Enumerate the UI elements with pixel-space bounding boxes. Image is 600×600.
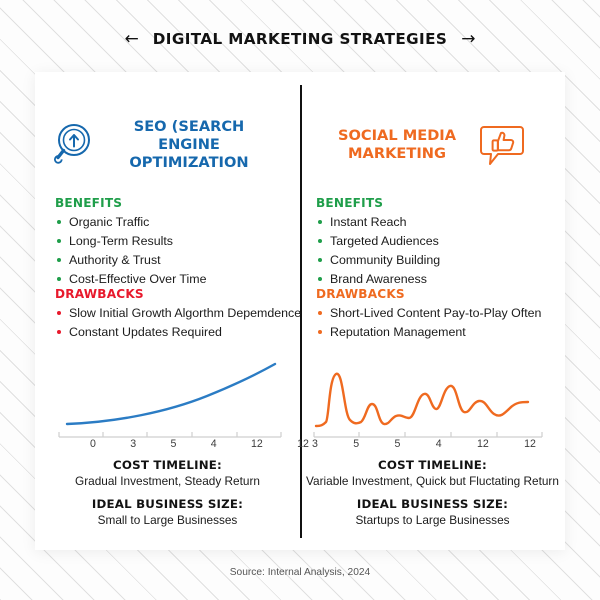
list-item: Instant Reach — [316, 213, 565, 232]
social-media-chart-axis-labels: 3 5 5 4 12 12 — [312, 438, 536, 454]
list-item: Community Building — [316, 251, 565, 270]
axis-tick-label: 3 — [312, 438, 318, 454]
axis-tick-label: 4 — [211, 438, 217, 454]
infographic-page: ← DIGITAL MARKETING STRATEGIES → SEO (SE… — [0, 0, 600, 600]
list-item: Long-Term Results — [55, 232, 300, 251]
panel-social-media-benefits: BENEFITS Instant Reach Targeted Audience… — [300, 196, 565, 288]
drawbacks-list: Slow Initial Growth Algorthm Depemdence … — [55, 304, 300, 342]
ideal-business-size-label: IDEAL BUSINESS SIZE: — [35, 497, 300, 511]
panel-social-media-drawbacks: DRAWBACKS Short-Lived Content Pay-to-Pla… — [300, 287, 565, 342]
drawbacks-heading: DRAWBACKS — [316, 287, 565, 301]
axis-tick-label: 5 — [395, 438, 401, 454]
panel-seo-title: SEO (SEARCH ENGINE OPTIMIZATION — [105, 118, 273, 172]
cost-timeline-value: Variable Investment, Quick but Fluctatin… — [300, 474, 565, 488]
panel-social-media: SOCIAL MEDIA MARKETING BENEFITS Instant … — [300, 72, 565, 550]
magnifying-glass-up-arrow-icon — [53, 121, 101, 169]
axis-tick-label: 12 — [524, 438, 536, 454]
benefits-list: Organic Traffic Long-Term Results Author… — [55, 213, 300, 288]
panel-seo: SEO (SEARCH ENGINE OPTIMIZATION BENEFITS… — [35, 72, 300, 550]
right-arrow-icon[interactable]: → — [461, 31, 475, 48]
list-item: Organic Traffic — [55, 213, 300, 232]
drawbacks-list: Short-Lived Content Pay-to-Play Often Re… — [316, 304, 565, 342]
ideal-business-size-value: Startups to Large Businesses — [300, 513, 565, 527]
seo-chart-axis-labels: 0 3 5 4 12 12 — [90, 438, 309, 454]
list-item: Targeted Audiences — [316, 232, 565, 251]
seo-chart-svg — [57, 352, 287, 440]
axis-tick-label: 5 — [171, 438, 177, 454]
source-note: Source: Internal Analysis, 2024 — [0, 567, 600, 578]
axis-tick-label: 0 — [90, 438, 96, 454]
panel-seo-cost-timeline: COST TIMELINE: Gradual Investment, Stead… — [35, 458, 300, 488]
cost-timeline-label: COST TIMELINE: — [300, 458, 565, 472]
list-item: Reputation Management — [316, 323, 565, 342]
axis-tick-label: 4 — [436, 438, 442, 454]
cost-timeline-value: Gradual Investment, Steady Return — [35, 474, 300, 488]
thumbs-up-speech-bubble-icon — [478, 121, 526, 169]
list-item: Slow Initial Growth Algorthm Depemdence — [55, 304, 300, 323]
list-item: Brand Awareness — [316, 270, 565, 289]
benefits-list: Instant Reach Targeted Audiences Communi… — [316, 213, 565, 288]
axis-tick-label: 5 — [353, 438, 359, 454]
panel-social-media-cost-timeline: COST TIMELINE: Variable Investment, Quic… — [300, 458, 565, 488]
panel-social-media-ideal-business-size: IDEAL BUSINESS SIZE: Startups to Large B… — [300, 497, 565, 527]
panel-seo-benefits: BENEFITS Organic Traffic Long-Term Resul… — [35, 196, 300, 288]
benefits-heading: BENEFITS — [316, 196, 565, 210]
axis-tick-label: 3 — [130, 438, 136, 454]
drawbacks-heading: DRAWBACKS — [55, 287, 300, 301]
benefits-heading: BENEFITS — [55, 196, 300, 210]
ideal-business-size-label: IDEAL BUSINESS SIZE: — [300, 497, 565, 511]
ideal-business-size-value: Small to Large Businesses — [35, 513, 300, 527]
comparison-card: SEO (SEARCH ENGINE OPTIMIZATION BENEFITS… — [35, 72, 565, 550]
axis-tick-label: 12 — [251, 438, 263, 454]
panel-social-media-header: SOCIAL MEDIA MARKETING — [300, 116, 565, 174]
list-item: Cost-Effective Over Time — [55, 270, 300, 289]
social-media-fluctuation-chart — [300, 352, 565, 442]
axis-tick-label: 12 — [477, 438, 489, 454]
panel-seo-header: SEO (SEARCH ENGINE OPTIMIZATION — [35, 116, 300, 174]
list-item: Authority & Trust — [55, 251, 300, 270]
seo-growth-chart — [35, 352, 300, 442]
page-title: DIGITAL MARKETING STRATEGIES — [153, 30, 447, 48]
page-header: ← DIGITAL MARKETING STRATEGIES → — [0, 30, 600, 48]
panel-social-media-title: SOCIAL MEDIA MARKETING — [322, 127, 472, 163]
list-item: Constant Updates Required — [55, 323, 300, 342]
cost-timeline-label: COST TIMELINE: — [35, 458, 300, 472]
social-media-chart-svg — [312, 352, 550, 440]
panel-seo-drawbacks: DRAWBACKS Slow Initial Growth Algorthm D… — [35, 287, 300, 342]
left-arrow-icon[interactable]: ← — [125, 31, 139, 48]
list-item: Short-Lived Content Pay-to-Play Often — [316, 304, 565, 323]
panel-seo-ideal-business-size: IDEAL BUSINESS SIZE: Small to Large Busi… — [35, 497, 300, 527]
